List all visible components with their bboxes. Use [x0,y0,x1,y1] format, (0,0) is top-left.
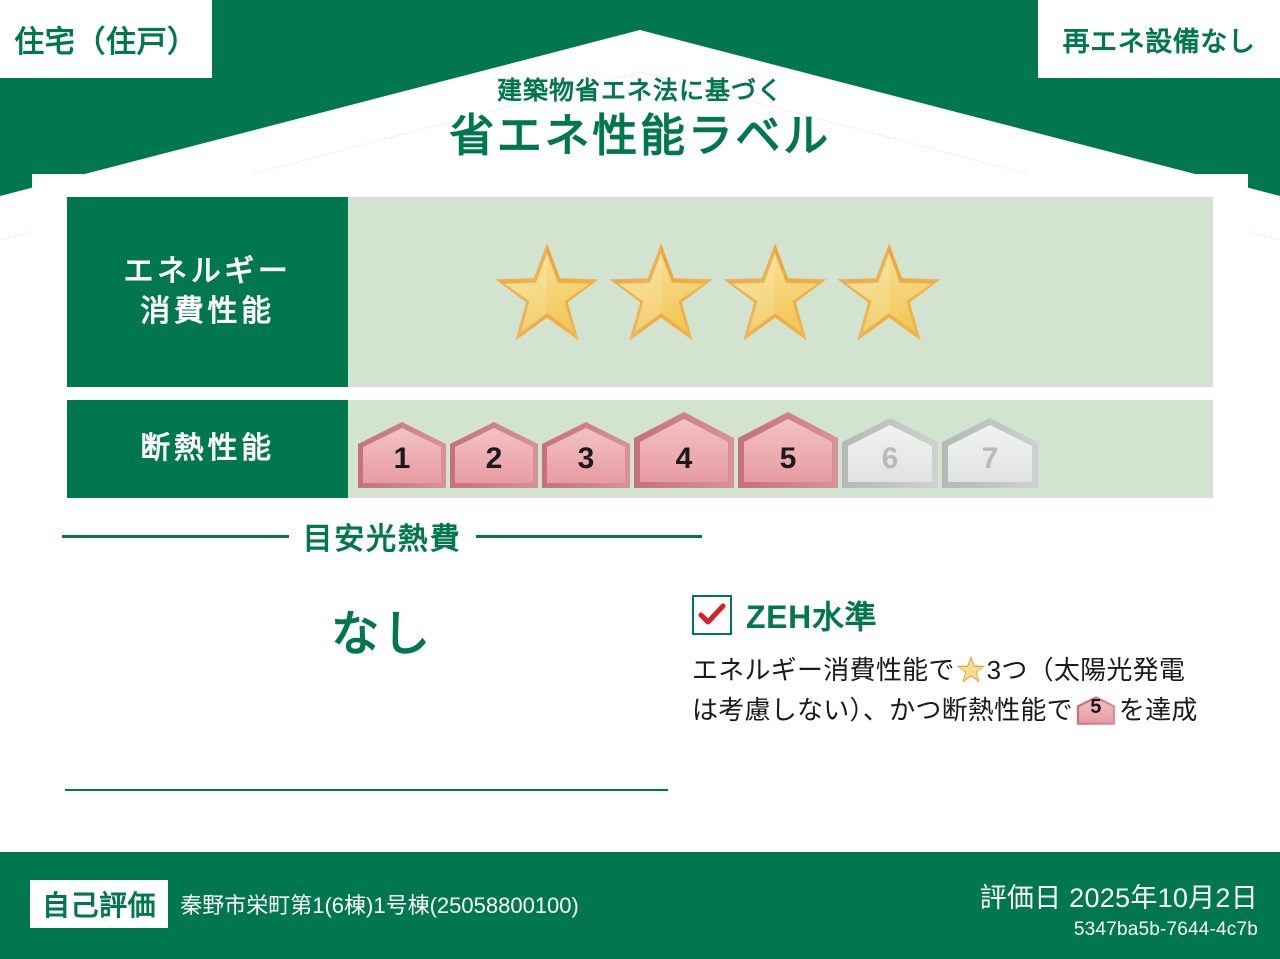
zeh-desc-part4: を達成 [1119,695,1198,725]
insulation-performance-label: 断熱性能 [67,400,348,498]
insulation-performance-value: 1 2 3 [348,400,1213,498]
zeh-title-row: ZEH水準 [692,592,1222,638]
insulation-grade-scale: 1 2 3 [356,408,1040,490]
energy-label-line1: エネルギー [124,252,292,293]
insulation-grade-4: 4 [632,408,736,490]
check-icon [698,603,726,627]
energy-label-line2: 消費性能 [140,292,274,333]
badge-building-type: 住宅（住戸） [0,0,212,78]
grade-number: 2 [448,442,540,476]
insulation-grade-7: 7 [940,414,1040,490]
footer-right: 評価日 2025年10月2日 5347ba5b-7644-4c7b [980,876,1258,941]
star-icon [492,240,602,345]
star-rating [492,240,944,345]
zeh-standard-block: ZEH水準 エネルギー消費性能で3つ（太陽光発電 は考慮しない）、かつ断熱性能で… [692,592,1222,731]
star-icon [606,240,716,345]
energy-performance-value [348,197,1213,387]
utility-cost-bottom-divider [65,789,668,791]
energy-performance-row: エネルギー 消費性能 [67,197,1213,387]
inline-grade-number: 5 [1076,692,1116,723]
star-icon [956,655,986,684]
utility-cost-heading-row: 目安光熱費 [62,514,702,558]
footer-document-id: 5347ba5b-7644-4c7b [980,919,1258,941]
insulation-grade-6: 6 [840,414,940,490]
grade-number: 4 [632,442,736,476]
zeh-desc-part2: 3つ（太陽光発電 [987,655,1186,685]
zeh-desc-part1: エネルギー消費性能で [692,655,955,685]
zeh-title: ZEH水準 [746,592,877,638]
zeh-desc-part3: は考慮しない）、かつ断熱性能で [692,695,1073,725]
insulation-grade-5: 5 [736,408,840,490]
label-card: エネルギー 消費性能 [32,174,1248,852]
utility-cost-value: なし [62,594,702,664]
grade-number: 3 [540,442,632,476]
zeh-checkbox[interactable] [692,595,732,635]
footer-building-name: 秦野市栄町第1(6棟)1号棟(25058800100) [180,888,579,920]
divider-left [62,535,289,538]
star-icon [834,240,944,345]
insulation-grade-1: 1 [356,418,448,490]
badge-evaluation-type: 自己評価 [30,880,168,928]
insulation-grade-2: 2 [448,418,540,490]
grade-number: 5 [736,442,840,476]
star-icon [720,240,830,345]
zeh-description: エネルギー消費性能で3つ（太陽光発電 は考慮しない）、かつ断熱性能で5を達成 [692,650,1222,731]
utility-cost-heading: 目安光熱費 [303,514,462,558]
insulation-grade-3: 3 [540,418,632,490]
grade-number: 6 [840,442,940,476]
footer-evaluation-date: 評価日 2025年10月2日 [980,876,1258,915]
footer: 自己評価 秦野市栄町第1(6棟)1号棟(25058800100) 評価日 202… [0,852,1280,959]
energy-performance-label: エネルギー 消費性能 [67,197,348,387]
divider-right [476,535,703,538]
inline-grade-badge: 5 [1076,694,1116,726]
insulation-performance-row: 断熱性能 [67,400,1213,498]
grade-number: 7 [940,442,1040,476]
grade-number: 1 [356,442,448,476]
footer-left: 自己評価 秦野市栄町第1(6棟)1号棟(25058800100) [30,880,579,928]
badge-renewable-equipment: 再エネ設備なし [1038,0,1280,78]
